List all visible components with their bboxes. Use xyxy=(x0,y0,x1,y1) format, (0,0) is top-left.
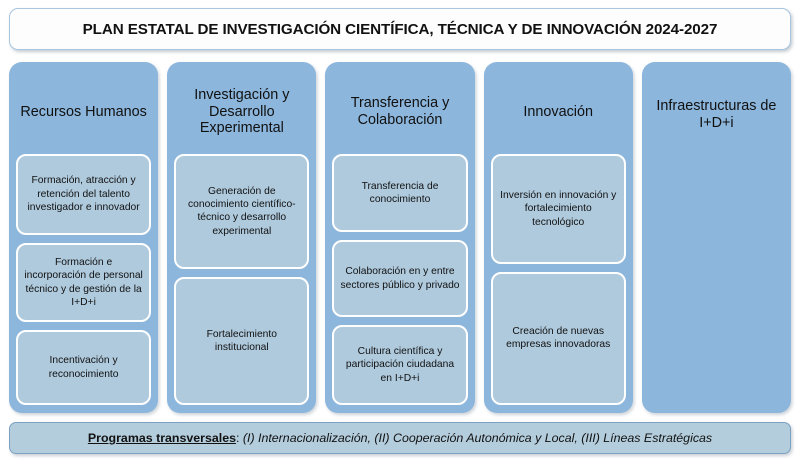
pillar-card: Incentivación y reconocimiento xyxy=(16,330,151,405)
pillar-column-transferencia-colaboracion: Transferencia y Colaboración Transferenc… xyxy=(325,62,474,413)
pillar-title: Recursos Humanos xyxy=(16,70,151,154)
pillar-card: Colaboración en y entre sectores público… xyxy=(332,240,467,317)
pillar-card: Formación, atracción y retención del tal… xyxy=(16,154,151,235)
transversal-programs-list: (I) Internacionalización, (II) Cooperaci… xyxy=(243,431,712,445)
pillar-title: Innovación xyxy=(491,70,626,154)
pillar-title: Infraestructuras de I+D+i xyxy=(649,98,784,132)
pillar-card-list: Generación de conocimiento científico-té… xyxy=(174,154,309,405)
page-title: PLAN ESTATAL DE INVESTIGACIÓN CIENTÍFICA… xyxy=(83,21,718,38)
transversal-programs-banner: Programas transversales: (I) Internacion… xyxy=(9,422,791,454)
pillar-card-list: Formación, atracción y retención del tal… xyxy=(16,154,151,405)
pillar-title: Investigación y Desarrollo Experimental xyxy=(174,70,309,154)
pillar-card: Transferencia de conocimiento xyxy=(332,154,467,232)
pillar-card: Creación de nuevas empresas innovadoras xyxy=(491,272,626,405)
pillar-column-infraestructuras: Infraestructuras de I+D+i xyxy=(642,62,791,413)
pillar-card: Cultura científica y participación ciuda… xyxy=(332,325,467,405)
pillar-card: Inversión en innovación y fortalecimient… xyxy=(491,154,626,264)
pillar-card: Generación de conocimiento científico-té… xyxy=(174,154,309,269)
diagram-title-banner: PLAN ESTATAL DE INVESTIGACIÓN CIENTÍFICA… xyxy=(9,8,791,50)
pillar-title: Transferencia y Colaboración xyxy=(332,70,467,154)
transversal-programs-text: Programas transversales: (I) Internacion… xyxy=(88,431,712,445)
pillar-column-innovacion: Innovación Inversión en innovación y for… xyxy=(484,62,633,413)
pillar-card: Fortalecimiento institucional xyxy=(174,277,309,405)
plan-estatal-diagram: PLAN ESTATAL DE INVESTIGACIÓN CIENTÍFICA… xyxy=(0,0,800,462)
pillar-card-list: Transferencia de conocimiento Colaboraci… xyxy=(332,154,467,405)
pillar-card: Formación e incorporación de personal té… xyxy=(16,243,151,322)
transversal-programs-label: Programas transversales xyxy=(88,431,236,445)
pillar-card-list: Inversión en innovación y fortalecimient… xyxy=(491,154,626,405)
pillar-columns: Recursos Humanos Formación, atracción y … xyxy=(9,62,791,413)
pillar-column-investigacion-desarrollo-experimental: Investigación y Desarrollo Experimental … xyxy=(167,62,316,413)
pillar-column-recursos-humanos: Recursos Humanos Formación, atracción y … xyxy=(9,62,158,413)
transversal-programs-separator: : xyxy=(236,431,243,445)
